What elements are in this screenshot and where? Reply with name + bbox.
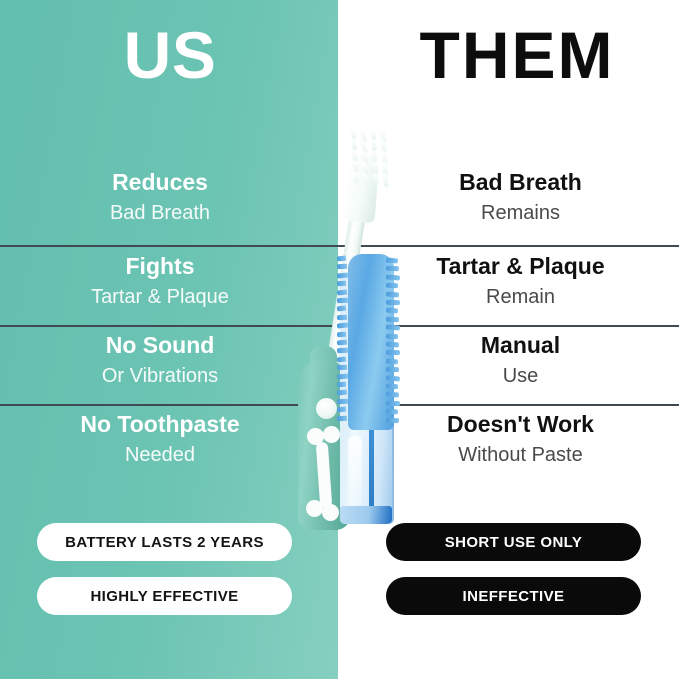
product-image — [270, 108, 430, 523]
comparison-infographic: US THEM Reduces Bad Breath Fights Tartar… — [0, 0, 679, 679]
badge-ineffective: INEFFECTIVE — [386, 577, 641, 615]
power-button-graphic — [316, 398, 337, 419]
badge-short-use-only: SHORT USE ONLY — [386, 523, 641, 561]
badge-highly-effective: HIGHLY EFFECTIVE — [37, 577, 292, 615]
finger-brush-icon — [336, 246, 408, 530]
badge-battery-lasts: BATTERY LASTS 2 YEARS — [37, 523, 292, 561]
